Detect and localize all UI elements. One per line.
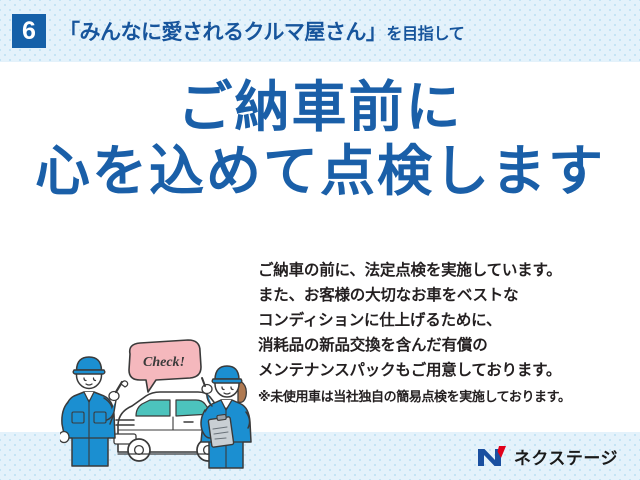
header-title-tail: を目指して [386, 20, 464, 44]
nextage-n-mark-icon [477, 445, 507, 467]
body-line-1: ご納車の前に、法定点検を実施しています。 [258, 258, 630, 283]
section-number-badge: 6 [12, 14, 46, 48]
header-title: 「みんなに愛されるクルマ屋さん」 を目指して [59, 16, 464, 46]
content-card: ご納車前に 心を込めて点検します ご納車の前に、法定点検を実施しています。 また… [0, 62, 640, 432]
body-paragraph: ご納車の前に、法定点検を実施しています。 また、お客様の大切なお車をベストな コ… [258, 258, 630, 407]
check-speech-bubble: Check! [129, 340, 201, 392]
body-line-4: 消耗品の新品交換を含んだ有償の [258, 333, 630, 358]
header-title-main: 「みんなに愛されるクルマ屋さん」 [59, 16, 386, 46]
headline-line-2: 心を込めて点検します [0, 142, 640, 200]
body-line-5: メンテナンスパックもご用意しております。 [258, 358, 630, 383]
advertisement-page: 6 「みんなに愛されるクルマ屋さん」 を目指して ご納車前に 心を込めて点検しま… [0, 0, 640, 480]
check-bubble-text: Check! [143, 355, 185, 370]
brand-name: ネクステージ [514, 444, 618, 469]
page-footer: ネクステージ [0, 432, 640, 480]
page-header: 6 「みんなに愛されるクルマ屋さん」 を目指して [0, 0, 640, 62]
body-line-2: また、お客様の大切なお車をベストな [258, 283, 630, 308]
headline: ご納車前に 心を込めて点検します [0, 78, 640, 201]
body-line-3: コンディションに仕上げるために、 [258, 308, 630, 333]
headline-line-1: ご納車前に [0, 78, 640, 136]
body-note: ※未使用車は当社独自の簡易点検を実施しております。 [258, 386, 630, 407]
brand-logo: ネクステージ [477, 444, 618, 469]
